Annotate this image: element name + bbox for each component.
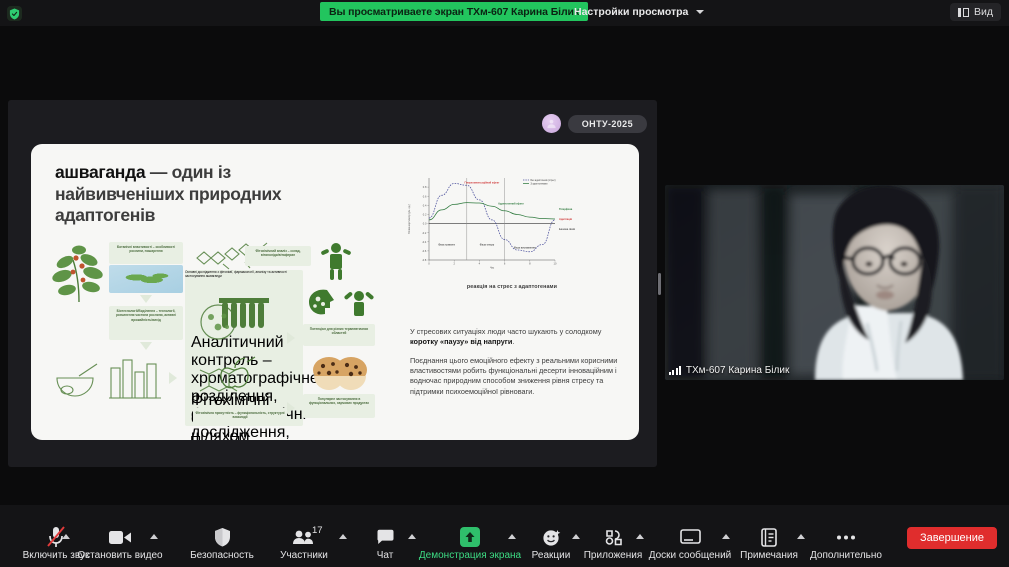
slide-paragraph-1: У стресових ситуаціях люди часто шукають… [410, 327, 625, 348]
share-screen-icon [460, 526, 480, 548]
paragraph1-highlight: коротку «паузу» від напруги [410, 337, 512, 346]
slide-paragraph-2: Поєднання цього емоційного ефекту з реал… [410, 356, 625, 397]
svg-text:Адаптогенний ефект: Адаптогенний ефект [498, 202, 524, 205]
distribution-map-icon [109, 265, 183, 293]
svg-text:-0.4: -0.4 [422, 240, 427, 244]
svg-text:4: 4 [479, 262, 481, 266]
arrow-right-icon-1 [169, 372, 177, 384]
toolbar-label-video: Остановить видео [77, 551, 162, 561]
svg-text:Фаза тривоги: Фаза тривоги [438, 243, 455, 246]
stage-scrollbar-handle[interactable] [658, 273, 661, 295]
screen-share-banner: Вы просматриваете экран TXм-607 Карина Б… [320, 2, 588, 21]
svg-text:Без адаптогенів (стрес): Без адаптогенів (стрес) [531, 179, 556, 182]
svg-text:З адаптогенами: З адаптогенами [531, 184, 549, 186]
whiteboards-options-caret[interactable] [722, 534, 730, 539]
notes-icon [761, 526, 777, 548]
info-box-biotech-label: Біотехнології/Виділення – технології, ро… [109, 306, 183, 325]
mute-options-caret[interactable] [62, 534, 70, 539]
arrow-down-icon [140, 295, 152, 303]
more-ellipsis-icon [836, 526, 856, 548]
video-feed [665, 185, 1004, 380]
toolbar-label-participants: Участники [280, 551, 328, 561]
participants-count: 17 [312, 525, 323, 536]
participants-options-caret[interactable] [339, 534, 347, 539]
slide-body-copy: У стресових ситуаціях люди часто шукають… [410, 327, 625, 397]
person-wellbeing-icon [343, 286, 375, 320]
toolbar-label-more: Дополнительно [810, 551, 882, 561]
info-box-phyto: Фітохімічний аналіз – склад, вітаноліди/… [245, 246, 311, 266]
end-meeting-button[interactable]: Завершение [907, 527, 997, 549]
svg-text:10: 10 [554, 262, 557, 266]
paragraph1-part-c: . [512, 337, 514, 346]
svg-text:Гіперкомпенсаційний ефект: Гіперкомпенсаційний ефект [465, 181, 501, 184]
arrow-right-icon-3 [287, 402, 295, 414]
svg-text:Гіперфаза: Гіперфаза [559, 207, 573, 211]
presenter-header: ОНТУ-2025 [542, 114, 647, 133]
toolbar-item-chat[interactable]: Чат [360, 526, 410, 561]
whiteboard-icon [680, 526, 701, 548]
svg-text:0.2: 0.2 [423, 213, 427, 217]
mortar-pestle-icon [53, 360, 105, 400]
share-options-caret[interactable] [508, 534, 516, 539]
info-box-phyto-label: Фітохімічний аналіз – склад, вітаноліди/… [245, 246, 311, 261]
notes-options-caret[interactable] [797, 534, 805, 539]
cookies-dessert-icon [309, 354, 371, 394]
person-exercising-icon [319, 240, 353, 280]
zoom-meeting-window: Вы просматриваете экран TXм-607 Карина Б… [0, 0, 1009, 567]
encryption-shield-icon[interactable] [7, 6, 22, 21]
toolbar-item-apps[interactable]: Приложения [580, 526, 646, 561]
signal-bars-icon [669, 366, 681, 375]
info-box-structure-label: Фітохімічна присутність – функціональніс… [193, 408, 287, 423]
shield-check-icon [9, 8, 20, 20]
stress-response-chart: -0.8-0.6-0.4-0.20.00.20.40.60.80246810Вп… [403, 172, 621, 280]
chat-bubble-icon [376, 526, 395, 548]
svg-text:Вплив кортизолу (ум. од.): Вплив кортизолу (ум. од.) [408, 204, 411, 234]
toolbar-label-security: Безопасность [190, 551, 254, 561]
chart-svg: -0.8-0.6-0.4-0.20.00.20.40.60.80246810Вп… [403, 172, 621, 280]
info-box-botanical: Ботанічні властивості – особливості росл… [109, 242, 183, 264]
info-box-botanical-label: Ботанічні властивості – особливості росл… [109, 242, 183, 257]
ashwagandha-plant-illustration [51, 242, 107, 304]
svg-text:6: 6 [504, 262, 506, 266]
svg-text:0.8: 0.8 [423, 185, 427, 189]
apps-icon [604, 526, 623, 548]
meeting-toolbar: Включить звук Остановить видео Безопас [0, 505, 1009, 567]
self-video-tile[interactable]: ТХм-607 Карина Білик [665, 185, 1004, 380]
svg-text:-0.6: -0.6 [422, 249, 427, 253]
svg-text:0: 0 [428, 262, 430, 266]
toolbar-item-security[interactable]: Безопасность [178, 526, 266, 561]
cell-structure-icon [197, 302, 239, 342]
svg-text:Час: Час [490, 267, 495, 270]
svg-text:-0.2: -0.2 [422, 231, 427, 235]
toolbar-item-video[interactable]: Остановить видео [72, 526, 168, 561]
toolbar-item-notes[interactable]: Примечания [735, 526, 803, 561]
reactions-smiley-icon [542, 526, 561, 548]
benzene-ring-icon [195, 366, 239, 404]
svg-text:Фаза опору: Фаза опору [480, 243, 495, 246]
svg-text:2: 2 [453, 262, 455, 266]
view-button-label: Вид [974, 6, 993, 18]
shield-icon [214, 526, 231, 548]
svg-text:Фаза виснаження: Фаза виснаження [514, 247, 536, 250]
chevron-down-icon [696, 10, 704, 14]
avatar [542, 114, 561, 133]
info-panel-research-label: Основні дослідження з фітохімії, фармако… [185, 270, 303, 278]
slide-title-bold: ашваганда [55, 162, 145, 182]
info-box-popular: Популярне застосування в функціональних,… [303, 394, 375, 418]
presentation-slide: ашваганда — один із найвивченіших природ… [31, 144, 639, 440]
paragraph1-part-a: У стресових ситуаціях люди часто шукають… [410, 327, 601, 336]
toolbar-item-more[interactable]: Дополнительно [806, 526, 886, 561]
view-settings-label: Настройки просмотра [574, 6, 688, 18]
toolbar-label-chat: Чат [377, 551, 394, 561]
info-box-potential: Потенціал для різних терапевтичних облас… [303, 324, 375, 346]
toolbar-item-whiteboards[interactable]: Доски сообщений [645, 526, 735, 561]
svg-text:-0.8: -0.8 [422, 258, 427, 262]
toolbar-label-notes: Примечания [740, 551, 798, 561]
video-options-caret[interactable] [150, 534, 158, 539]
svg-text:Адаптація: Адаптація [559, 217, 573, 221]
arrow-down-icon-2 [140, 342, 152, 350]
svg-text:8: 8 [529, 262, 531, 266]
toolbar-label-share-screen: Демонстрация экрана [419, 551, 521, 561]
person-avatar-icon [546, 118, 557, 129]
info-box-popular-label: Популярне застосування в функціональних,… [303, 394, 375, 409]
view-layout-button[interactable]: Вид [950, 3, 1001, 21]
layout-view-icon [958, 8, 969, 17]
toolbar-item-share-screen[interactable]: Демонстрация экрана [412, 526, 528, 561]
toolbar-label-whiteboards: Доски сообщений [649, 551, 732, 561]
svg-text:Базова лінія: Базова лінія [559, 227, 576, 231]
video-participant-name: ТХм-607 Карина Білик [669, 365, 789, 376]
brain-head-icon [305, 286, 337, 318]
info-box-potential-label: Потенціал для різних терапевтичних облас… [303, 324, 375, 339]
apps-options-caret[interactable] [636, 534, 644, 539]
toolbar-item-reactions[interactable]: Реакции [524, 526, 578, 561]
view-settings-button[interactable]: Настройки просмотра [566, 2, 712, 21]
infographic: Ботанічні властивості – особливості росл… [45, 240, 395, 430]
video-camera-icon [109, 526, 131, 548]
svg-text:0.4: 0.4 [423, 203, 427, 207]
svg-text:0.0: 0.0 [423, 222, 427, 226]
info-box-structure: Фітохімічна присутність – функціональніс… [193, 408, 287, 426]
toolbar-item-participants[interactable]: 17 Участники [268, 526, 340, 561]
svg-text:0.6: 0.6 [423, 194, 427, 198]
slide-title: ашваганда — один із найвивченіших природ… [55, 162, 355, 227]
video-participant-label: ТХм-607 Карина Білик [686, 365, 789, 376]
shared-screen-stage[interactable]: ОНТУ-2025 ашваганда — один із найвивчені… [8, 100, 657, 467]
reactions-options-caret[interactable] [572, 534, 580, 539]
presenter-name-pill: ОНТУ-2025 [568, 115, 647, 133]
lab-equipment-icon [107, 356, 165, 402]
top-bar: Вы просматриваете экран TXм-607 Карина Б… [0, 0, 1009, 26]
participants-icon: 17 [292, 526, 316, 548]
arrow-right-icon-2 [287, 332, 295, 344]
chart-caption: реакція на стрес з адаптогенами [403, 284, 621, 290]
toolbar-label-reactions: Реакции [532, 551, 571, 561]
toolbar-label-apps: Приложения [584, 551, 643, 561]
info-box-biotech: Біотехнології/Виділення – технології, ро… [109, 306, 183, 340]
